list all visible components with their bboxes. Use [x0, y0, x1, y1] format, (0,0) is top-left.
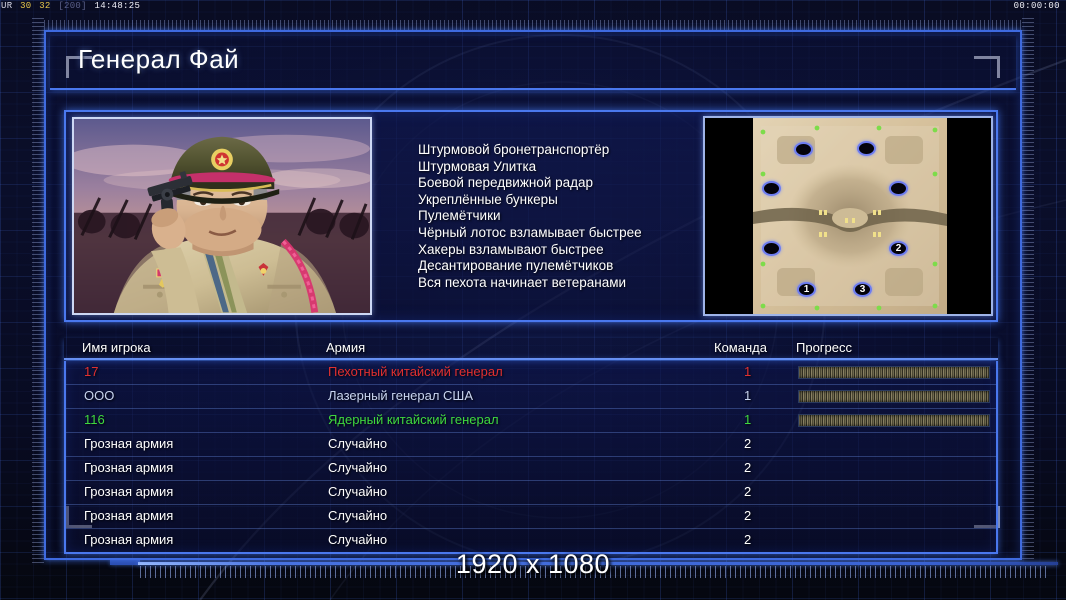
title-bar: Генерал Фай [50, 36, 1016, 90]
map-start-position[interactable] [857, 141, 876, 156]
page-title: Генерал Фай [78, 44, 239, 75]
cell-player-name: 17 [84, 364, 98, 379]
ability-item: Хакеры взламывают быстрее [418, 242, 696, 259]
cell-player-name: 116 [84, 412, 105, 427]
resolution-overlay: 1920 x 1080 [0, 549, 1066, 580]
cell-team: 2 [744, 484, 751, 499]
ruler-left [32, 18, 44, 563]
cell-army: Лазерный генерал США [328, 388, 473, 403]
ability-item: Вся пехота начинает ветеранами [418, 275, 696, 292]
map-preview[interactable]: 2 1 3 [703, 116, 993, 316]
cell-army: Случайно [328, 508, 387, 523]
map-preview-image: 2 1 3 [753, 118, 947, 314]
table-row[interactable]: Грозная армияСлучайно2 [66, 457, 996, 481]
map-start-position[interactable] [794, 142, 813, 157]
general-portrait [72, 117, 372, 315]
cell-player-name: Грозная армия [84, 508, 173, 523]
ability-item: Укреплённые бункеры [418, 192, 696, 209]
status-num-2: 32 [38, 1, 51, 11]
column-header-progress: Прогресс [796, 340, 852, 355]
ability-item: Десантирование пулемётчиков [418, 258, 696, 275]
cell-team: 2 [744, 460, 751, 475]
progress-bar [798, 366, 990, 379]
match-timer: 00:00:00 [1014, 0, 1060, 13]
progress-bar [798, 414, 990, 427]
top-status-bar: UR 30 32 [200] 14:48:25 [0, 0, 1066, 13]
general-portrait-image [74, 119, 370, 314]
map-terrain [753, 118, 947, 314]
cell-player-name: Грозная армия [84, 484, 173, 499]
map-start-position[interactable] [762, 241, 781, 256]
status-num-1: 30 [19, 1, 32, 11]
cell-player-name: Грозная армия [84, 436, 173, 451]
cell-player-name: Грозная армия [84, 460, 173, 475]
map-start-position-1[interactable]: 1 [797, 282, 816, 297]
cell-player-name: ООО [84, 388, 114, 403]
game-lobby-screen: UR 30 32 [200] 14:48:25 00:00:00 Генерал… [0, 0, 1066, 600]
cell-army: Случайно [328, 436, 387, 451]
general-abilities-list: Штурмовой бронетранспортёр Штурмовая Ули… [418, 142, 696, 291]
table-row[interactable]: Грозная армияСлучайно2 [66, 433, 996, 457]
cell-army: Случайно [328, 532, 387, 547]
map-start-position-3[interactable]: 3 [853, 282, 872, 297]
cell-team: 2 [744, 436, 751, 451]
cell-team: 1 [744, 412, 751, 427]
status-label: UR [0, 1, 13, 11]
status-bracket: [200] [57, 1, 88, 11]
ability-item: Штурмовая Улитка [418, 159, 696, 176]
table-row[interactable]: 116Ядерный китайский генерал1 [66, 409, 996, 433]
column-header-player-name: Имя игрока [82, 340, 151, 355]
map-start-position[interactable] [762, 181, 781, 196]
cell-army: Случайно [328, 460, 387, 475]
ability-item: Чёрный лотос взламывает быстрее [418, 225, 696, 242]
cell-team: 2 [744, 508, 751, 523]
table-row[interactable]: ОООЛазерный генерал США1 [66, 385, 996, 409]
ability-item: Штурмовой бронетранспортёр [418, 142, 696, 159]
player-table-header: Имя игрока Армия Команда Прогресс [64, 338, 998, 360]
ability-item: Боевой передвижной радар [418, 175, 696, 192]
cell-player-name: Грозная армия [84, 532, 173, 547]
ruler-top [44, 20, 1022, 30]
table-row[interactable]: Грозная армияСлучайно2 [66, 481, 996, 505]
map-start-position-2[interactable]: 2 [889, 241, 908, 256]
cell-team: 1 [744, 364, 751, 379]
cell-army: Пехотный китайский генерал [328, 364, 503, 379]
ability-item: Пулемётчики [418, 208, 696, 225]
table-row[interactable]: 17Пехотный китайский генерал1 [66, 361, 996, 385]
ruler-right [1022, 18, 1034, 563]
cell-army: Случайно [328, 484, 387, 499]
progress-bar [798, 390, 990, 403]
cell-team: 1 [744, 388, 751, 403]
cell-team: 2 [744, 532, 751, 547]
map-start-position[interactable] [889, 181, 908, 196]
cell-army: Ядерный китайский генерал [328, 412, 499, 427]
column-header-team: Команда [714, 340, 767, 355]
status-clock: 14:48:25 [94, 1, 142, 11]
column-header-army: Армия [326, 340, 365, 355]
player-table-body: 17Пехотный китайский генерал1ОООЛазерный… [64, 361, 998, 554]
table-row[interactable]: Грозная армияСлучайно2 [66, 505, 996, 529]
